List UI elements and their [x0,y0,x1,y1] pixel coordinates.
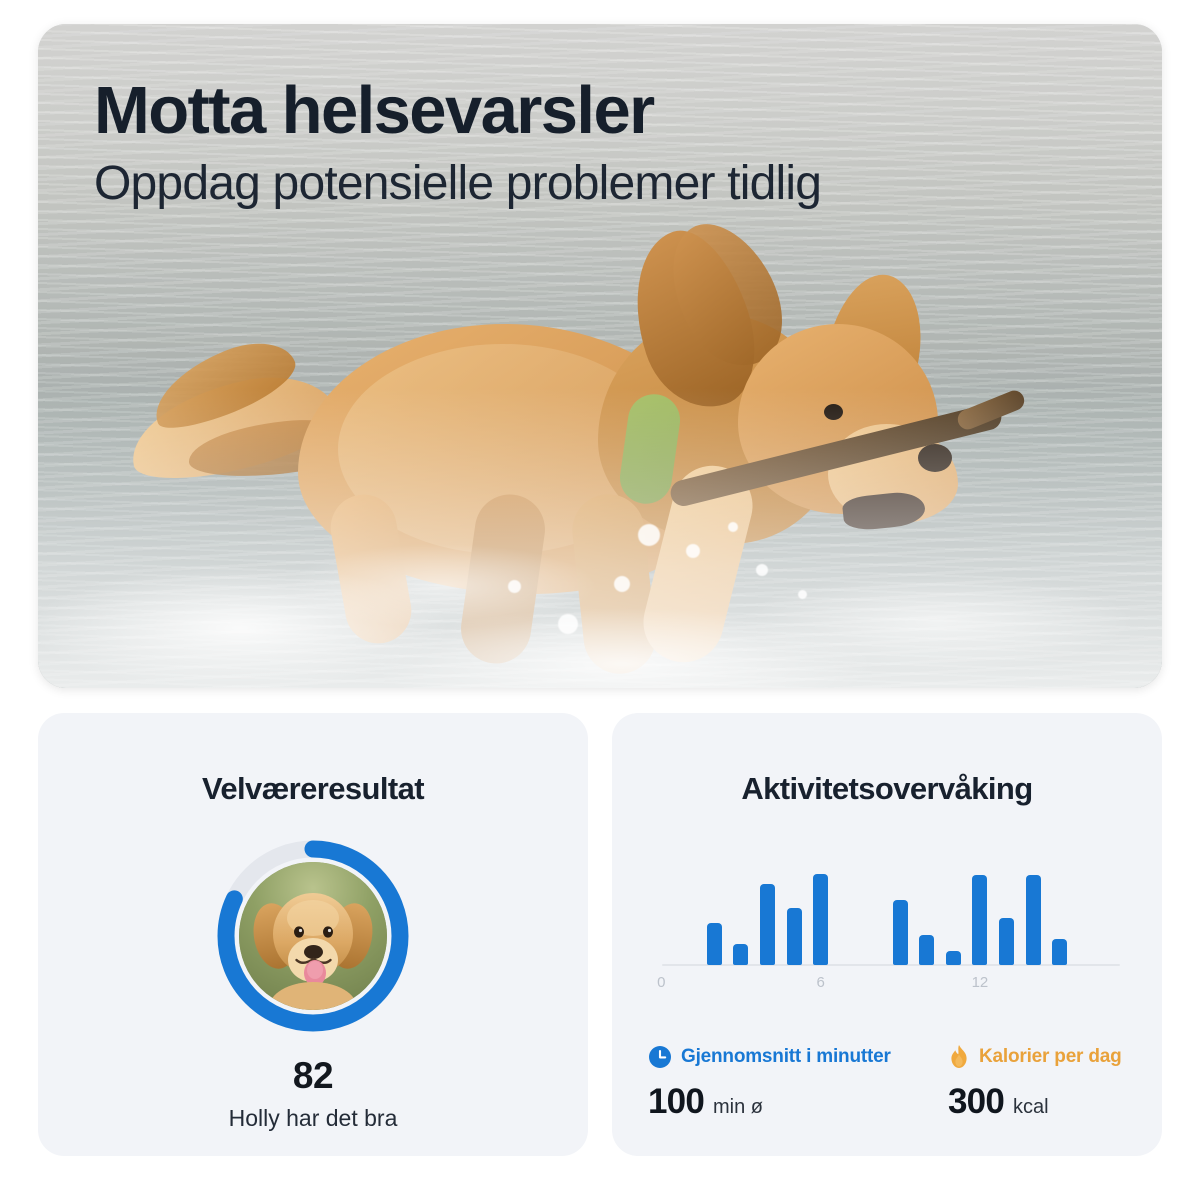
chart-bar [946,951,961,965]
clock-icon [648,1045,672,1069]
wellness-score-card: Velværeresultat [38,713,588,1156]
wellness-card-title: Velværeresultat [38,771,588,807]
chart-bar [760,884,775,965]
stat-unit-average-minutes: min ø [713,1096,763,1119]
app-root: Motta helsevarsler Oppdag potensielle pr… [0,0,1200,1200]
stat-average-minutes: Gjennomsnitt i minutter 100 min ø [648,1043,891,1122]
stat-calories-per-day: Kalorier per dag 300 kcal [948,1043,1122,1122]
chart-bar [707,923,722,965]
chart-bar [813,874,828,965]
stat-value-average-minutes: 100 [648,1082,704,1122]
chart-bar [1026,875,1041,965]
chart-x-ticks: 0612 [648,969,1126,993]
wellness-ring [212,835,414,1037]
pet-avatar [239,862,387,1010]
cards-row: Velværeresultat [38,713,1162,1156]
chart-bar [787,908,802,965]
chart-bars [648,855,1126,965]
hero-banner: Motta helsevarsler Oppdag potensielle pr… [38,24,1162,688]
water-foam [38,388,1162,688]
activity-monitoring-card: Aktivitetsovervåking 0612 Gj [612,713,1162,1156]
stat-unit-calories-per-day: kcal [1013,1096,1049,1119]
hero-text-block: Motta helsevarsler Oppdag potensielle pr… [94,76,1134,211]
activity-stats: Gjennomsnitt i minutter 100 min ø [648,1043,1134,1133]
chart-bar [1052,939,1067,965]
chart-bar [733,944,748,965]
chart-bar [972,875,987,965]
wellness-score-value: 82 [38,1055,588,1097]
chart-bar [893,900,908,965]
pet-avatar-illustration [239,862,387,1010]
activity-card-title: Aktivitetsovervåking [612,771,1162,807]
chart-x-tick-label: 6 [816,974,824,991]
activity-bar-chart: 0612 [648,843,1126,993]
chart-x-tick-label: 12 [972,974,989,991]
hero-title: Motta helsevarsler [94,76,1134,146]
stat-label-calories-per-day: Kalorier per dag [979,1046,1122,1068]
stat-value-calories-per-day: 300 [948,1082,1004,1122]
flame-icon [948,1044,970,1070]
wellness-score-status: Holly har det bra [38,1105,588,1132]
chart-bar [999,918,1014,965]
chart-bar [919,935,934,965]
chart-x-tick-label: 0 [657,974,665,991]
stat-label-average-minutes: Gjennomsnitt i minutter [681,1046,891,1068]
hero-subtitle: Oppdag potensielle problemer tidlig [94,158,1134,211]
